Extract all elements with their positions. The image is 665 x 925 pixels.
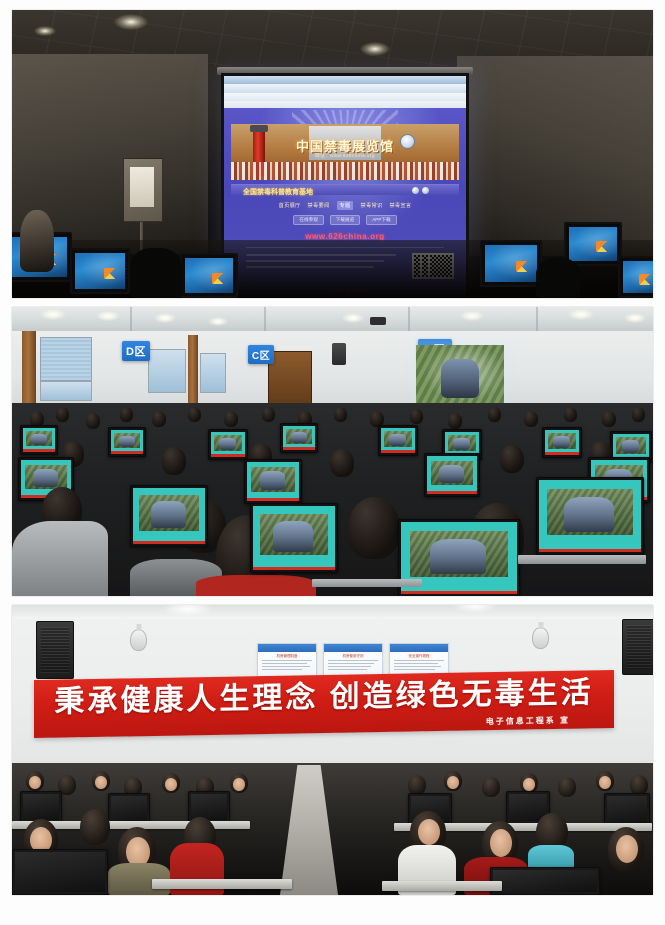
windows-logo-icon bbox=[596, 241, 609, 252]
classroom-scene: 机房管理制度 机房使用守则 bbox=[12, 605, 653, 895]
ceiling-lamp-1 bbox=[40, 309, 66, 320]
text-line bbox=[262, 660, 312, 661]
monitor-video bbox=[214, 435, 243, 451]
lab-monitor bbox=[280, 423, 318, 453]
student-head bbox=[632, 407, 645, 422]
nav-item-3[interactable]: 禁毒常识 bbox=[360, 202, 382, 209]
student-face bbox=[29, 776, 41, 789]
classroom-monitor-foreground bbox=[490, 867, 600, 895]
student-face bbox=[95, 776, 107, 789]
site-hero-banner: 中国禁毒展览馆 网址：www.626china.org bbox=[231, 124, 459, 180]
electrical-panel bbox=[123, 158, 163, 222]
anti-drug-banner: 秉承健康人生理念 创造绿色无毒生活 电子信息工程系 宣 bbox=[34, 670, 614, 738]
monitor-accent-strip bbox=[253, 567, 335, 570]
crowd-illustration bbox=[231, 162, 459, 180]
monitor-video bbox=[25, 465, 67, 489]
photo-classroom-banner-front-view: 机房管理制度 机房使用守则 bbox=[12, 605, 653, 895]
monitor-bezel bbox=[247, 462, 299, 501]
national-emblem-icon bbox=[400, 134, 415, 149]
site-button-2[interactable]: APP下载 bbox=[366, 215, 396, 225]
monitor-video bbox=[431, 461, 473, 485]
monitor-6 bbox=[618, 256, 653, 298]
lab-desk-row bbox=[518, 555, 646, 564]
student-head bbox=[56, 407, 69, 422]
site-subtitle: 网址：www.626china.org bbox=[315, 153, 375, 159]
student-head bbox=[602, 411, 616, 427]
browser-address-bar[interactable] bbox=[224, 93, 466, 101]
ceiling-lamp-8 bbox=[624, 313, 646, 323]
student-head bbox=[500, 445, 524, 473]
student-head bbox=[488, 407, 501, 422]
notice-board-body bbox=[394, 660, 444, 672]
text-line bbox=[394, 660, 444, 661]
wood-column-2 bbox=[188, 335, 198, 405]
student-face bbox=[447, 776, 459, 789]
projection-video-image bbox=[416, 345, 504, 407]
monitor-5 bbox=[564, 222, 622, 266]
ceiling-lamp-3 bbox=[154, 313, 176, 323]
student-head bbox=[334, 407, 347, 422]
ceiling-projector bbox=[370, 317, 386, 325]
classroom-monitor-foreground bbox=[12, 849, 108, 895]
monitor-5-screen bbox=[569, 227, 617, 261]
student-head bbox=[408, 775, 426, 795]
right-wall bbox=[457, 56, 653, 256]
lab-monitor bbox=[244, 459, 302, 504]
monitor-6-screen bbox=[623, 261, 653, 293]
windows-logo-icon bbox=[212, 273, 225, 284]
monitor-video bbox=[114, 433, 141, 448]
ceiling-beam-2 bbox=[264, 307, 266, 333]
text-line bbox=[262, 666, 310, 667]
nav-item-1[interactable]: 禁毒要闻 bbox=[308, 202, 330, 209]
browser-title-bar bbox=[224, 76, 466, 84]
wall-speaker-right bbox=[622, 619, 653, 675]
site-subtitle-bar-text: 全国禁毒科普教育基地 bbox=[243, 187, 313, 197]
monitor-accent-strip bbox=[427, 491, 477, 494]
monitor-accent-strip bbox=[23, 449, 55, 452]
person-silhouette-center bbox=[130, 248, 182, 298]
student-head bbox=[448, 413, 462, 429]
student-face bbox=[233, 778, 245, 791]
site-nav[interactable]: 首页展厅 禁毒要闻 专题 禁毒常识 禁毒宣言 bbox=[224, 201, 466, 210]
student-face bbox=[523, 778, 535, 791]
monitor-video bbox=[384, 431, 413, 447]
text-line bbox=[328, 669, 367, 670]
nav-item-0[interactable]: 首页展厅 bbox=[279, 202, 301, 209]
lab-monitor-foreground bbox=[536, 477, 644, 555]
lab-monitor bbox=[542, 427, 582, 458]
ceiling-lamp-2 bbox=[96, 311, 120, 321]
lab-monitor bbox=[20, 425, 58, 455]
monitor-screen bbox=[111, 796, 147, 822]
computer-lab-scene: D区 C区 B区 bbox=[12, 307, 653, 596]
site-button-1[interactable]: 下载展览 bbox=[330, 215, 360, 225]
banner-signature: 电子信息工程系 宣 bbox=[486, 715, 570, 727]
badge-icon-1 bbox=[412, 187, 419, 194]
monitor-accent-strip bbox=[111, 451, 143, 454]
monitor-bezel bbox=[133, 488, 205, 544]
student-head bbox=[86, 413, 100, 429]
banner-main-text: 秉承健康人生理念 创造绿色无毒生活 bbox=[34, 676, 614, 720]
window-3 bbox=[200, 353, 226, 393]
monitor-3-screen bbox=[185, 258, 233, 293]
student-head bbox=[152, 411, 166, 427]
monitor-4-screen bbox=[485, 245, 537, 282]
notice-board-3: 安全操作规程 bbox=[389, 643, 449, 677]
lab-monitor bbox=[378, 425, 418, 456]
window-1 bbox=[40, 381, 92, 401]
lab-monitor bbox=[208, 429, 248, 460]
notice-board-body bbox=[262, 660, 312, 672]
badge-icon-2 bbox=[422, 187, 429, 194]
site-button-0[interactable]: 在线参观 bbox=[293, 215, 323, 225]
monitor-screen bbox=[607, 796, 647, 824]
student-head bbox=[564, 407, 577, 422]
site-badges bbox=[412, 187, 429, 194]
notice-board-body bbox=[328, 660, 378, 672]
classroom-ceiling bbox=[12, 605, 653, 619]
monitor-accent-strip bbox=[211, 454, 245, 457]
text-line bbox=[394, 666, 441, 667]
site-action-buttons[interactable]: 在线参观 下载展览 APP下载 bbox=[224, 215, 466, 224]
ceiling-light-3 bbox=[34, 26, 56, 36]
monitor-4 bbox=[480, 240, 542, 287]
student-face bbox=[418, 819, 440, 845]
student-face bbox=[616, 835, 638, 863]
notice-board-header bbox=[390, 644, 448, 652]
monitor-video bbox=[260, 514, 329, 555]
browser-bookmarks-bar bbox=[224, 101, 466, 108]
windows-logo-icon bbox=[104, 268, 117, 279]
monitor-video bbox=[548, 433, 577, 449]
monitor-video bbox=[616, 437, 646, 454]
student-head bbox=[348, 497, 400, 559]
ceiling-light-1 bbox=[114, 14, 148, 30]
ceiling-lamp-5 bbox=[342, 313, 364, 323]
notice-board-1: 机房管理制度 bbox=[257, 643, 317, 677]
text-line bbox=[328, 663, 374, 664]
student-face bbox=[165, 778, 177, 791]
monitor-bezel bbox=[253, 506, 335, 570]
student-head bbox=[482, 777, 500, 797]
text-line bbox=[394, 663, 438, 664]
security-camera-left bbox=[130, 629, 147, 651]
notice-board-title: 机房管理制度 bbox=[258, 654, 316, 659]
ceiling-beam-1 bbox=[130, 307, 132, 333]
ceiling-lamp-7 bbox=[568, 309, 594, 320]
text-line bbox=[262, 669, 302, 670]
text-line bbox=[328, 660, 378, 661]
notice-board-2: 机房使用守则 bbox=[323, 643, 383, 677]
monitor-bezel bbox=[539, 480, 641, 552]
notice-board-title: 机房使用守则 bbox=[324, 654, 382, 659]
student-body bbox=[196, 575, 316, 596]
ceiling-light-2 bbox=[360, 42, 390, 56]
student-face bbox=[599, 776, 611, 789]
student-head bbox=[410, 409, 423, 424]
student-head bbox=[630, 775, 648, 795]
ceiling-lamp-4 bbox=[208, 317, 228, 326]
wall-speaker bbox=[332, 343, 346, 365]
classroom-monitor bbox=[604, 793, 650, 827]
ceiling-beam-3 bbox=[408, 307, 410, 333]
site-subtitle-bar: 全国禁毒科普教育基地 bbox=[231, 184, 459, 195]
monitor-video bbox=[139, 495, 199, 531]
monitor-accent-strip bbox=[401, 591, 517, 594]
windows-logo-icon bbox=[639, 274, 652, 285]
monitor-video bbox=[251, 467, 295, 492]
wall-speaker-left bbox=[36, 621, 74, 679]
lecture-hall-scene: 中国禁毒展览馆 网址：www.626china.org 全国禁毒科普教育基地 首… bbox=[12, 10, 653, 298]
monitor-3 bbox=[180, 253, 238, 298]
window-2 bbox=[148, 349, 186, 393]
lab-desk-row bbox=[312, 579, 422, 587]
monitor-accent-strip bbox=[283, 447, 315, 450]
monitor-bezel bbox=[427, 456, 477, 494]
text-line bbox=[262, 663, 307, 664]
monitor-video bbox=[410, 531, 507, 577]
window-blind-1 bbox=[40, 337, 92, 381]
desk-row-front-left bbox=[152, 879, 292, 889]
monitor-video bbox=[286, 429, 313, 444]
monitor-accent-strip bbox=[381, 450, 415, 453]
monitor-screen bbox=[493, 870, 597, 892]
student-head bbox=[330, 449, 354, 477]
lab-door[interactable] bbox=[268, 351, 312, 409]
notice-board-header bbox=[258, 644, 316, 652]
nav-item-2[interactable]: 专题 bbox=[337, 201, 354, 210]
student-head bbox=[262, 407, 275, 422]
lab-monitor bbox=[424, 453, 480, 497]
photo-projector-lecture-hall: 中国禁毒展览馆 网址：www.626china.org 全国禁毒科普教育基地 首… bbox=[12, 10, 653, 298]
nav-item-4[interactable]: 禁毒宣言 bbox=[389, 202, 411, 209]
monitor-video bbox=[26, 431, 53, 446]
zone-sign-c: C区 bbox=[248, 345, 274, 364]
lab-monitor-foreground bbox=[250, 503, 338, 573]
student-head bbox=[188, 407, 201, 422]
zone-sign-d: D区 bbox=[122, 341, 150, 361]
ceiling-lamp-6 bbox=[460, 311, 484, 321]
wood-column-1 bbox=[22, 331, 36, 409]
text-line bbox=[328, 666, 371, 667]
monitor-video bbox=[547, 489, 633, 535]
student-body bbox=[12, 521, 108, 596]
windows-logo-icon bbox=[516, 261, 529, 272]
notice-board-title: 安全操作规程 bbox=[390, 654, 448, 659]
monitor-2 bbox=[70, 248, 130, 294]
desk-row-front-right bbox=[382, 881, 502, 891]
student-face bbox=[490, 829, 512, 857]
person-standing-left bbox=[20, 210, 54, 272]
monitor-2-screen bbox=[75, 253, 125, 289]
text-line bbox=[394, 669, 435, 670]
lab-monitor bbox=[108, 427, 146, 457]
monitor-accent-strip bbox=[247, 498, 299, 501]
monitor-screen bbox=[191, 794, 227, 820]
student-head bbox=[80, 809, 110, 845]
monitor-accent-strip bbox=[133, 541, 205, 544]
lab-monitor-foreground bbox=[130, 485, 208, 547]
student-head bbox=[524, 411, 538, 427]
browser-tab-strip bbox=[224, 84, 466, 93]
student-head bbox=[558, 777, 576, 797]
security-camera-right bbox=[532, 627, 549, 649]
monitor-accent-strip bbox=[545, 452, 579, 455]
monitor-screen bbox=[23, 794, 59, 820]
notice-board-header bbox=[324, 644, 382, 652]
student-head bbox=[224, 411, 238, 427]
monitor-video bbox=[448, 435, 477, 451]
student-head bbox=[162, 447, 186, 475]
person-silhouette-right bbox=[536, 258, 580, 298]
ceiling-beam-4 bbox=[536, 307, 538, 333]
student-head bbox=[120, 407, 133, 422]
monitor-accent-strip bbox=[539, 549, 641, 552]
monitor-screen bbox=[15, 852, 105, 892]
photo-computer-lab-rear-view: D区 C区 B区 bbox=[12, 307, 653, 596]
photo-collage: 中国禁毒展览馆 网址：www.626china.org 全国禁毒科普教育基地 首… bbox=[0, 0, 665, 925]
